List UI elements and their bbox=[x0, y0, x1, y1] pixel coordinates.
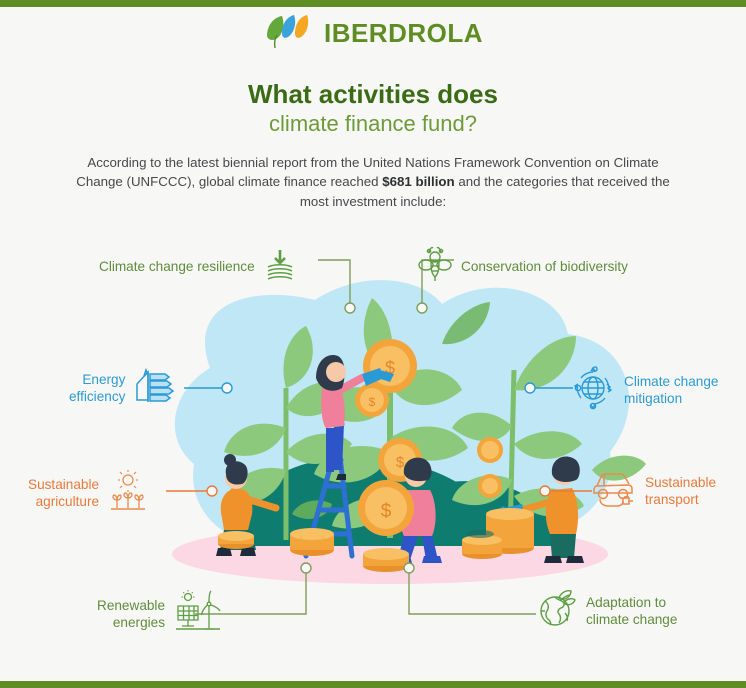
sustainable-agriculture-line-1: Sustainable bbox=[28, 477, 99, 492]
label-climate-change-resilience[interactable]: Climate change resilience bbox=[99, 248, 296, 287]
adaptation-to-climate-change-line-2: climate change bbox=[586, 612, 677, 627]
house-energy-rating-icon bbox=[134, 366, 176, 411]
brand-logo: IBERDROLA bbox=[0, 14, 746, 52]
adaptation-to-climate-change-line-1: Adaptation to bbox=[586, 595, 666, 610]
title-line-1: What activities does bbox=[0, 80, 746, 110]
label-renewable-energies[interactable]: Renewable energies bbox=[97, 590, 222, 639]
globe-cycle-icon bbox=[571, 366, 615, 415]
sustainable-transport-line-2: transport bbox=[645, 492, 699, 507]
label-sustainable-agriculture[interactable]: Sustainable agriculture bbox=[28, 470, 148, 517]
climate-change-mitigation-line-2: mitigation bbox=[624, 391, 682, 406]
label-text-sustainable-agriculture: Sustainable agriculture bbox=[28, 477, 99, 510]
title-line-2: climate finance fund? bbox=[0, 110, 746, 139]
label-conservation-of-biodiversity[interactable]: Conservation of biodiversity bbox=[418, 246, 628, 289]
label-text-climate-change-resilience: Climate change resilience bbox=[99, 259, 255, 276]
top-accent-bar bbox=[0, 0, 746, 7]
label-text-renewable-energies: Renewable energies bbox=[97, 598, 165, 631]
climate-change-mitigation-line-1: Climate change bbox=[624, 374, 718, 389]
sustainable-agriculture-line-2: agriculture bbox=[36, 494, 99, 509]
label-text-conservation-of-biodiversity: Conservation of biodiversity bbox=[461, 259, 628, 276]
label-text-adaptation-to-climate-change: Adaptation to climate change bbox=[586, 595, 677, 628]
iberdrola-leaves-logo-icon bbox=[263, 14, 317, 52]
arrow-down-waves-icon bbox=[264, 248, 296, 287]
bee-icon bbox=[418, 246, 452, 289]
bottom-accent-bar bbox=[0, 681, 746, 688]
sun-crops-icon bbox=[108, 470, 148, 517]
connector-lines bbox=[0, 228, 746, 648]
label-adaptation-to-climate-change[interactable]: Adaptation to climate change bbox=[537, 588, 677, 635]
renewable-energies-line-2: energies bbox=[113, 615, 165, 630]
label-climate-change-mitigation[interactable]: Climate change mitigation bbox=[571, 366, 718, 415]
brand-name: IBERDROLA bbox=[324, 20, 483, 46]
solar-panel-wind-turbine-icon bbox=[174, 590, 222, 639]
energy-efficiency-line-1: Energy bbox=[82, 372, 125, 387]
renewable-energies-line-1: Renewable bbox=[97, 598, 165, 613]
sustainable-transport-line-1: Sustainable bbox=[645, 475, 716, 490]
label-sustainable-transport[interactable]: Sustainable transport bbox=[592, 468, 716, 515]
intro-paragraph: According to the latest biennial report … bbox=[63, 153, 683, 211]
label-text-climate-change-mitigation: Climate change mitigation bbox=[624, 374, 718, 407]
globe-leaves-icon bbox=[537, 588, 577, 635]
energy-efficiency-line-2: efficiency bbox=[69, 389, 125, 404]
label-text-energy-efficiency: Energy efficiency bbox=[69, 372, 125, 405]
intro-amount-highlight: $681 billion bbox=[382, 174, 454, 189]
infographic-stage: $ $ $ bbox=[0, 228, 746, 648]
electric-car-plug-icon bbox=[592, 468, 636, 515]
label-text-sustainable-transport: Sustainable transport bbox=[645, 475, 716, 508]
page-title: What activities does climate finance fun… bbox=[0, 80, 746, 138]
label-energy-efficiency[interactable]: Energy efficiency bbox=[69, 366, 176, 411]
